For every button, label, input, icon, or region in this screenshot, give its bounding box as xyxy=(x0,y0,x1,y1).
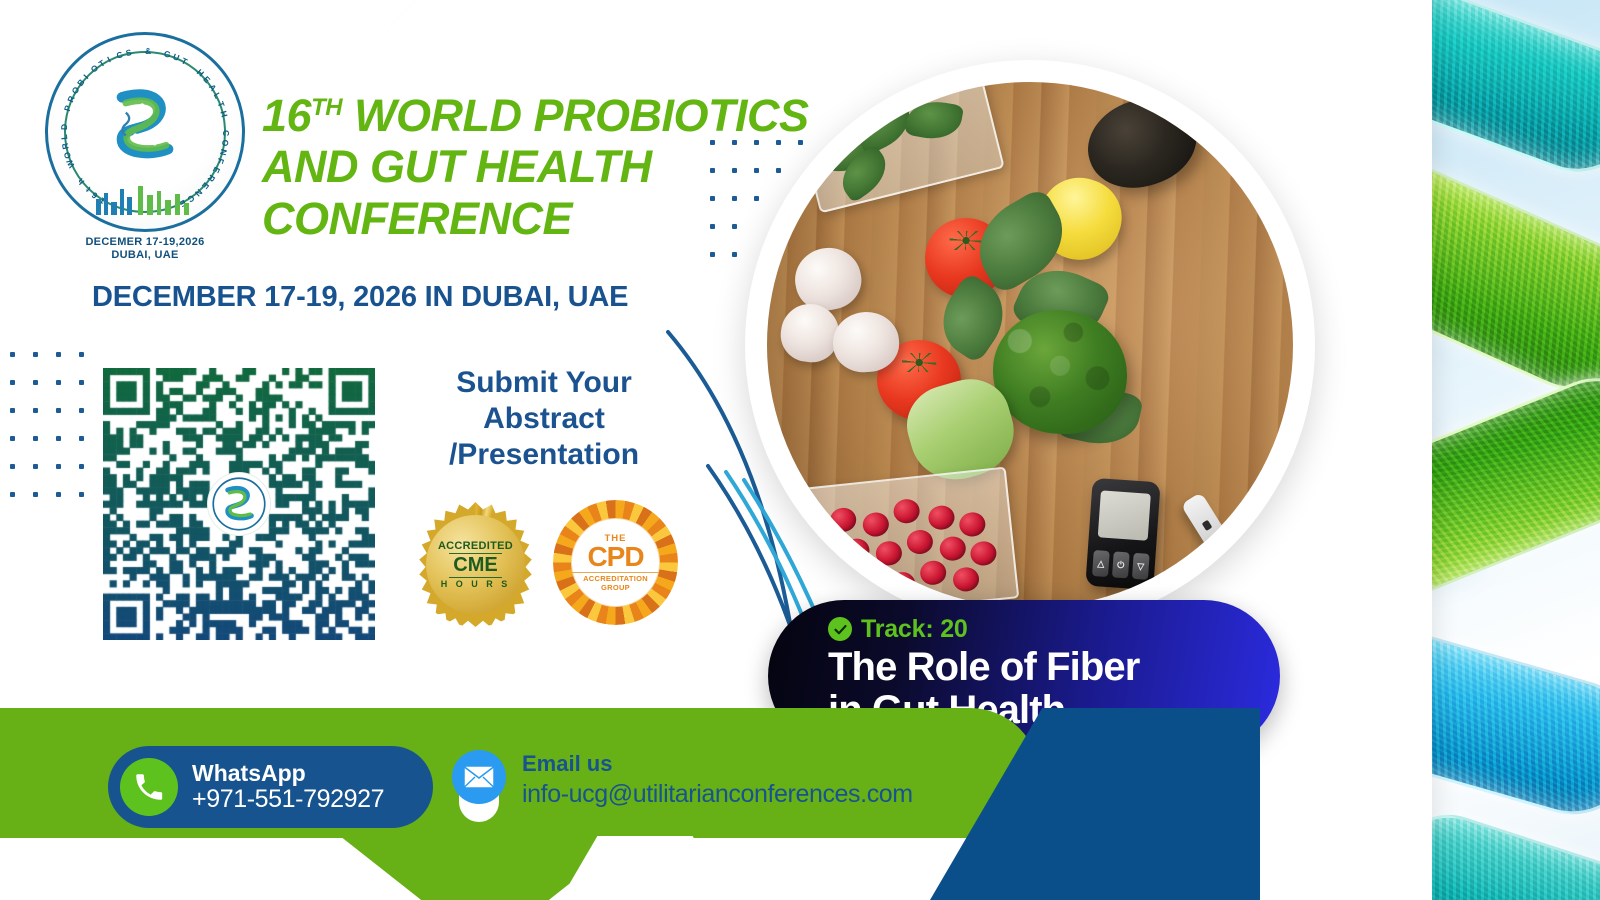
photo-frame: △ ⏻ ▽ xyxy=(745,60,1315,630)
button-power: ⏻ xyxy=(1112,552,1130,579)
raspberry xyxy=(969,540,997,567)
raspberry xyxy=(800,522,828,549)
submit-line-2: Abstract xyxy=(420,401,668,437)
whatsapp-number: +971-551-792927 xyxy=(192,786,384,814)
raspberry xyxy=(892,498,920,525)
raspberry xyxy=(927,504,955,531)
raspberry xyxy=(829,507,857,534)
raspberry xyxy=(919,560,947,587)
raspberry xyxy=(824,576,852,603)
cme-label-cme: CME xyxy=(449,553,501,578)
gut-dna-icon xyxy=(97,80,193,176)
cpd-accreditation-badge: THE CPD ACCREDITATION GROUP xyxy=(553,500,678,625)
cpd-label-group: ACCREDITATION GROUP xyxy=(572,572,659,592)
check-circle-icon xyxy=(828,617,852,641)
qr-center-logo xyxy=(207,472,271,536)
button-up: △ xyxy=(1092,550,1110,577)
raspberry xyxy=(856,568,884,595)
food-photo: △ ⏻ ▽ xyxy=(767,82,1293,608)
accreditation-badges: ACCREDITED CME H O U R S THE CPD ACCREDI… xyxy=(413,500,703,630)
track-title-line-1: The Role of Fiber xyxy=(828,646,1250,689)
logo-date-line1: DECEMER 17-19,2026 xyxy=(40,236,250,249)
broccoli-head xyxy=(993,310,1127,434)
email-contact[interactable]: Email us info-ucg@utilitarianconferences… xyxy=(452,750,913,822)
glucose-meter-buttons: △ ⏻ ▽ xyxy=(1092,550,1149,580)
envelope-icon xyxy=(463,765,495,789)
title-ordinal: TH xyxy=(311,94,342,121)
track-label: Track: 20 xyxy=(861,615,968,644)
cpd-label-cpd: CPD xyxy=(587,544,643,571)
email-label: Email us xyxy=(522,752,913,776)
spinach-leaf xyxy=(904,97,964,144)
phone-handset-icon xyxy=(132,770,166,804)
whatsapp-label: WhatsApp xyxy=(192,760,306,786)
check-icon xyxy=(833,622,848,637)
submit-abstract-text: Submit Your Abstract /Presentation xyxy=(420,365,668,473)
title-line1-rest: WORLD PROBIOTICS xyxy=(342,90,808,141)
conference-logo: 16th WORLD PROBIOTICS & GUT HEALTH CONFE… xyxy=(40,32,250,267)
qr-logo-icon xyxy=(211,476,267,532)
whatsapp-contact[interactable]: WhatsApp +971-551-792927 xyxy=(108,746,433,828)
email-icon xyxy=(452,750,506,822)
cme-label-accredited: ACCREDITED xyxy=(438,540,513,552)
conference-banner: 16th WORLD PROBIOTICS & GUT HEALTH CONFE… xyxy=(0,0,1600,900)
raspberry xyxy=(875,540,903,567)
email-icon-circle xyxy=(452,750,506,804)
raspberry xyxy=(842,537,870,564)
dubai-skyline-icon xyxy=(90,181,200,215)
cme-accreditation-badge: ACCREDITED CME H O U R S xyxy=(413,502,538,627)
button-down: ▽ xyxy=(1132,553,1150,580)
cme-label-hours: H O U R S xyxy=(441,579,511,589)
whatsapp-text: WhatsApp +971-551-792927 xyxy=(192,761,384,814)
phone-icon xyxy=(120,758,178,816)
track-row: Track: 20 xyxy=(828,614,1250,644)
raspberry xyxy=(811,549,839,576)
decorative-dot-grid-left xyxy=(10,352,100,512)
raspberry xyxy=(952,566,980,593)
cme-badge-face: ACCREDITED CME H O U R S xyxy=(426,515,525,614)
qr-code[interactable] xyxy=(103,368,375,640)
logo-date-line2: DUBAI, UAE xyxy=(40,249,250,262)
glucose-meter-screen xyxy=(1098,490,1152,541)
title-number: 16 xyxy=(262,90,311,141)
cpd-badge-face: THE CPD ACCREDITATION GROUP xyxy=(571,518,660,607)
raspberry xyxy=(862,511,890,538)
raspberry xyxy=(906,529,934,556)
submit-line-3: /Presentation xyxy=(420,437,668,473)
raspberry xyxy=(939,535,967,562)
email-text: Email us info-ucg@utilitarianconferences… xyxy=(522,750,913,809)
logo-date: DECEMER 17-19,2026 DUBAI, UAE xyxy=(40,236,250,261)
raspberry-container xyxy=(783,467,1020,608)
submit-line-1: Submit Your xyxy=(420,365,668,401)
event-date-location: DECEMBER 17-19, 2026 IN DUBAI, UAE xyxy=(92,281,628,314)
email-address[interactable]: info-ucg@utilitarianconferences.com xyxy=(522,780,913,809)
raspberry xyxy=(958,511,986,538)
logo-ring: 16th WORLD PROBIOTICS & GUT HEALTH CONFE… xyxy=(45,32,245,232)
glucose-meter: △ ⏻ ▽ xyxy=(1085,478,1160,590)
